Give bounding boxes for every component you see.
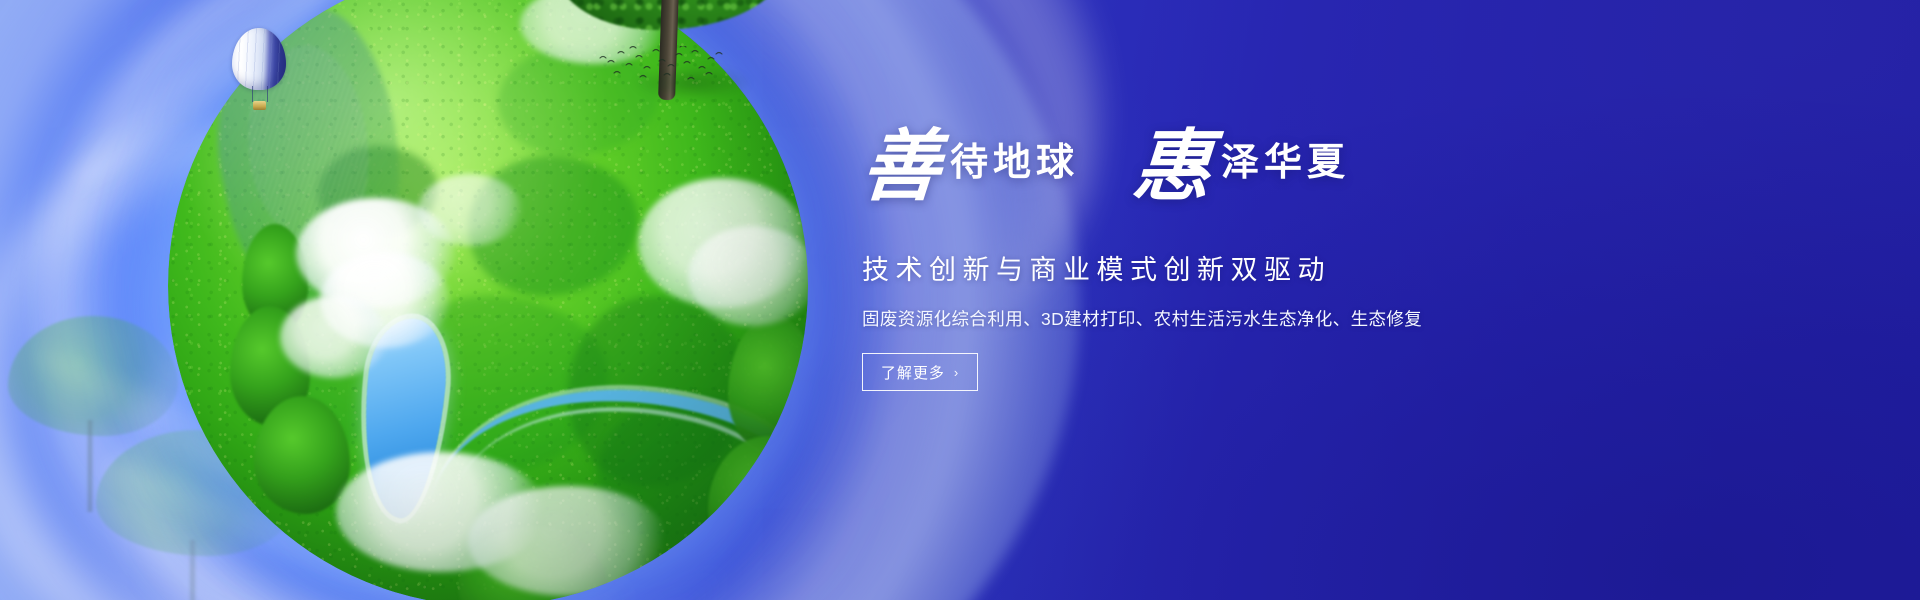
hero-banner: 善待地球惠泽华夏 技术创新与商业模式创新双驱动 固废资源化综合利用、3D建材打印…	[0, 0, 1920, 600]
page-title: 善待地球惠泽华夏	[862, 128, 1622, 228]
balloon-basket	[253, 101, 266, 110]
banner-subtitle: 技术创新与商业模式创新双驱动	[862, 248, 1622, 287]
hot-air-balloon-icon	[232, 28, 286, 114]
headline-char-hui: 惠	[1130, 128, 1213, 206]
bird-flock-icon	[596, 46, 726, 88]
banner-content: 善待地球惠泽华夏 技术创新与商业模式创新双驱动 固废资源化综合利用、3D建材打印…	[862, 128, 1622, 391]
tree-trunk	[86, 420, 94, 512]
headline-text-zehuaxia: 泽华夏	[1221, 131, 1350, 186]
headline-char-shan: 善	[859, 128, 942, 206]
learn-more-label: 了解更多	[881, 362, 945, 383]
headline-text-daidiqiu: 待地球	[950, 131, 1079, 186]
learn-more-button[interactable]: 了解更多 ›	[862, 353, 978, 391]
tree-canopy	[8, 316, 178, 436]
chevron-right-icon: ›	[954, 366, 959, 379]
balloon-rigging	[252, 86, 268, 102]
banner-description: 固废资源化综合利用、3D建材打印、农村生活污水生态净化、生态修复	[862, 306, 1622, 331]
balloon-envelope	[232, 28, 286, 90]
